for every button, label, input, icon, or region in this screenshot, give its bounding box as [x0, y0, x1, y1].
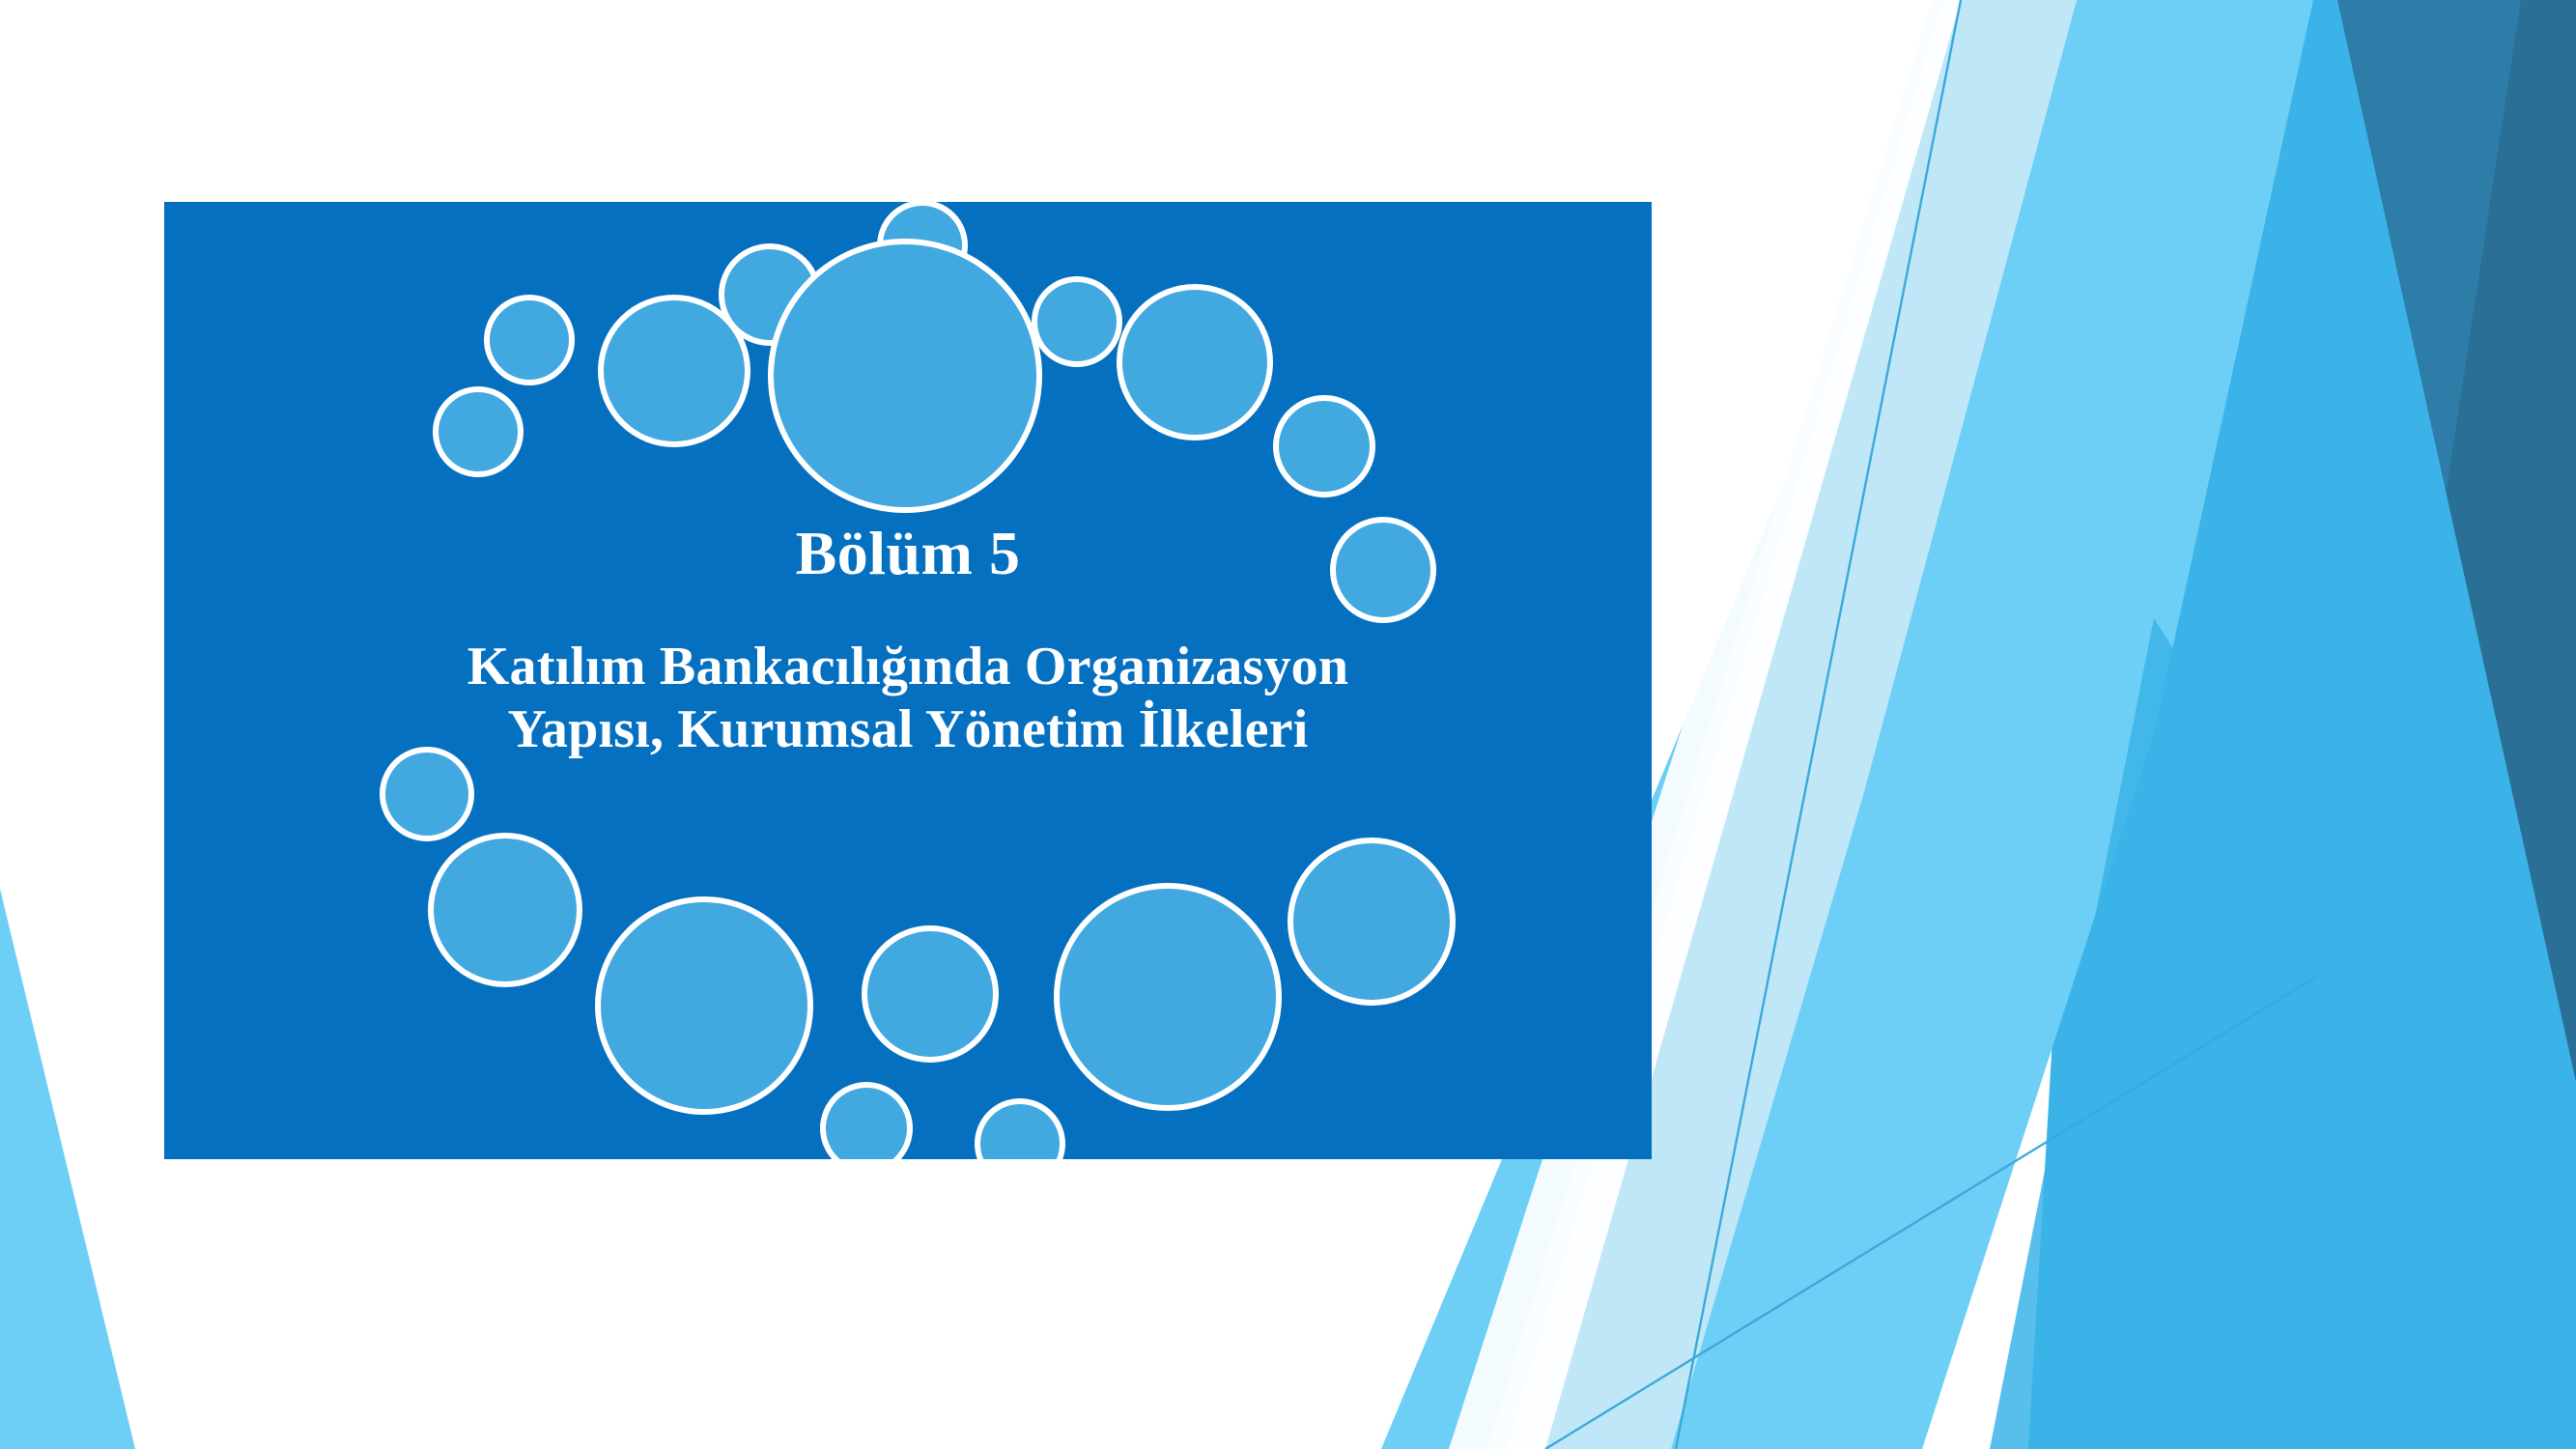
decorative-bubble — [977, 1101, 1062, 1159]
decorative-bubble — [487, 298, 572, 383]
decorative-bubble — [864, 928, 996, 1060]
decorative-bubble — [1057, 886, 1279, 1108]
right-light-band-lower-shape — [1990, 618, 2576, 1449]
diagonal-hairline-shallow — [1545, 976, 2318, 1449]
page-subtitle: Katılım Bankacılığında Organizasyon Yapı… — [454, 636, 1362, 761]
presentation-slide: Bölüm 5 Katılım Bankacılığında Organizas… — [0, 0, 2576, 1449]
right-dark-band-shape — [2212, 0, 2521, 985]
decorative-bubble — [601, 298, 748, 444]
decorative-bubble — [1290, 840, 1453, 1003]
diagonal-hairline-vertical — [1676, 0, 1961, 1449]
decorative-bubble — [823, 1085, 910, 1159]
right-darkest-band-shape — [2347, 0, 2576, 1449]
decorative-bubble — [1119, 287, 1270, 438]
decorative-bubble — [436, 389, 521, 474]
decorative-bubble — [771, 241, 1039, 510]
page-title: Bölüm 5 — [454, 521, 1362, 585]
title-text-block: Bölüm 5 Katılım Bankacılığında Organizas… — [164, 521, 1652, 761]
title-panel: Bölüm 5 Katılım Bankacılığında Organizas… — [164, 202, 1652, 1159]
right-mid-band-shape — [2028, 0, 2576, 1449]
decorative-bubble — [382, 750, 471, 838]
decorative-bubble — [1276, 398, 1373, 495]
decorative-bubble — [431, 836, 580, 984]
decorative-bubble — [1034, 279, 1119, 364]
bottom-left-wedge-shape — [0, 889, 135, 1449]
decorative-bubble — [598, 899, 810, 1112]
